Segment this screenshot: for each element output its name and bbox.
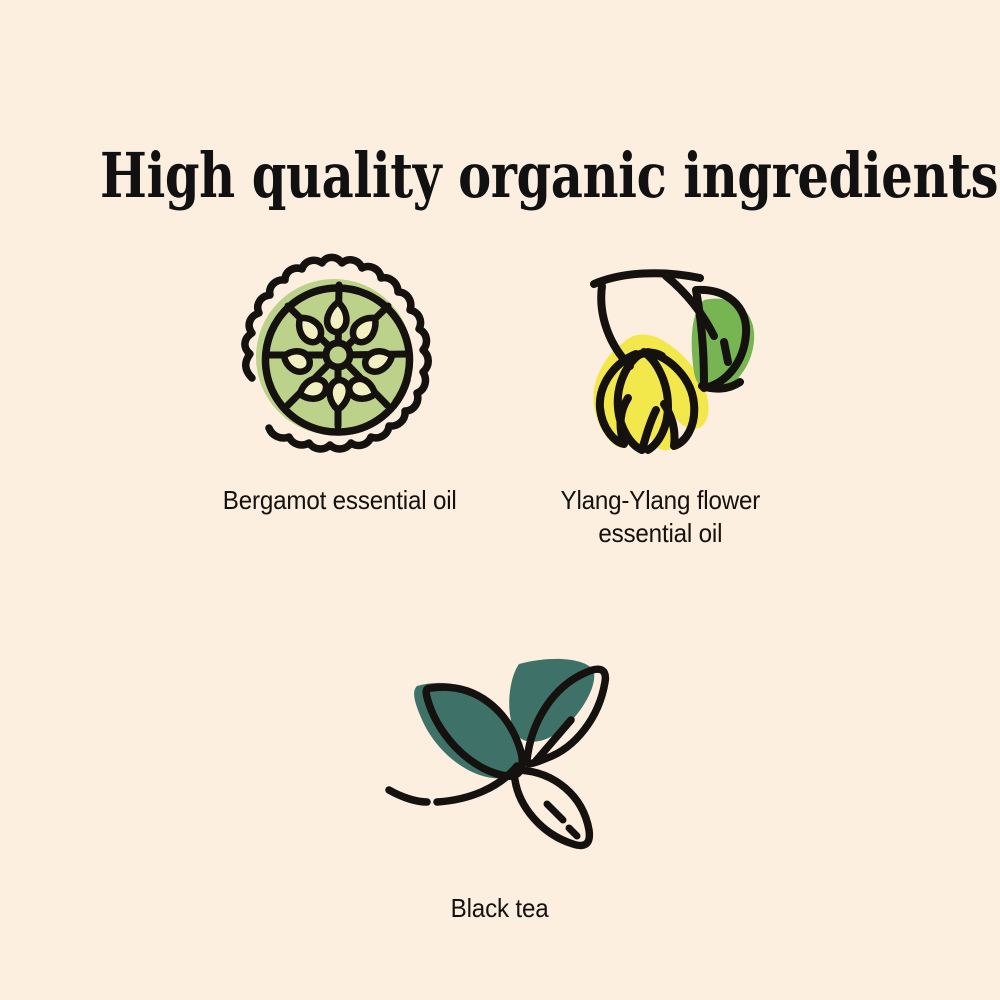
ingredient-card-black-tea: Black tea bbox=[340, 648, 660, 925]
bergamot-citrus-slice-icon bbox=[230, 250, 450, 470]
ingredient-label-ylang-ylang: Ylang-Ylang flower essential oil bbox=[560, 484, 760, 550]
label-line: Black tea bbox=[451, 892, 549, 925]
ingredients-list: Bergamot essential oil bbox=[0, 250, 1000, 925]
label-line: essential oil bbox=[560, 517, 760, 550]
page-title: High quality organic ingredients bbox=[100, 138, 900, 214]
ingredient-card-ylang-ylang: Ylang-Ylang flower essential oil bbox=[500, 250, 820, 550]
ingredients-row-2: Black tea bbox=[0, 648, 1000, 925]
ylang-ylang-flower-icon bbox=[554, 250, 774, 470]
black-tea-leaves-icon bbox=[375, 648, 625, 858]
ingredient-card-bergamot: Bergamot essential oil bbox=[180, 250, 500, 517]
ingredients-page: High quality organic ingredients bbox=[0, 0, 1000, 1000]
ingredient-label-black-tea: Black tea bbox=[451, 892, 549, 925]
label-line: Bergamot essential oil bbox=[223, 484, 457, 517]
ingredients-row-1: Bergamot essential oil bbox=[0, 250, 1000, 550]
label-line: Ylang-Ylang flower bbox=[560, 484, 760, 517]
ingredient-label-bergamot: Bergamot essential oil bbox=[223, 484, 457, 517]
